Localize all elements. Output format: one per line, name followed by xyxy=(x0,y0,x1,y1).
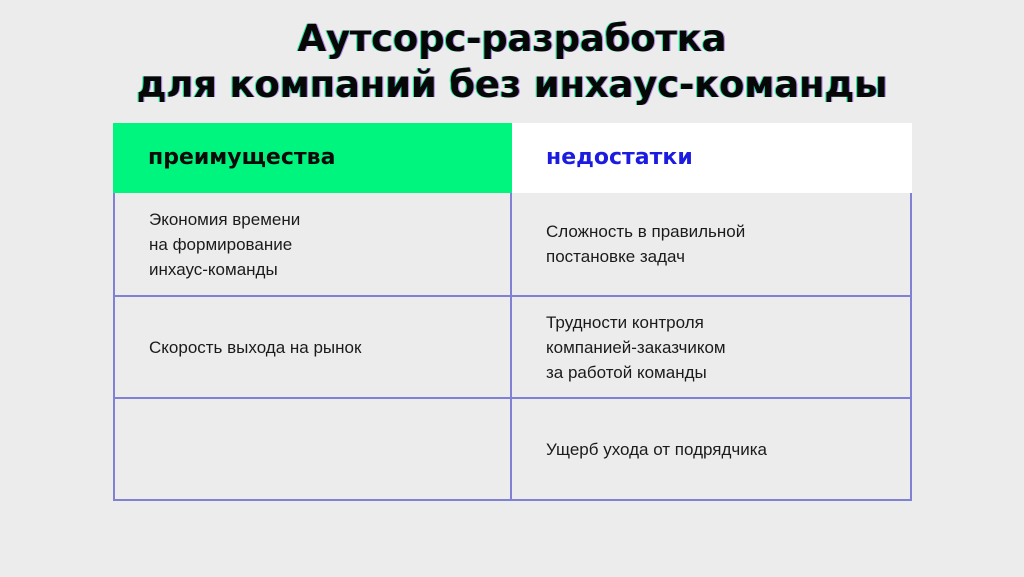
table-cell-text: Скорость выхода на рынок xyxy=(149,335,361,360)
table-header-row: преимущества недостатки xyxy=(113,123,912,193)
table-row: Экономия времени на формирование инхаус-… xyxy=(113,193,912,295)
page-title-line-2: для компаний без инхаус-команды xyxy=(0,62,1024,108)
table-cell-text: Трудности контроля компанией-заказчиком … xyxy=(546,310,726,385)
table-row: Скорость выхода на рынок Трудности контр… xyxy=(113,295,912,397)
table-cell-text: Сложность в правильной постановке задач xyxy=(546,219,745,269)
table-cell-advantages: Скорость выхода на рынок xyxy=(115,297,512,397)
table-row: Ущерб ухода от подрядчика xyxy=(113,397,912,501)
table-cell-disadvantages: Трудности контроля компанией-заказчиком … xyxy=(512,297,910,397)
column-header-advantages: преимущества xyxy=(113,123,512,193)
column-header-disadvantages: недостатки xyxy=(512,123,912,193)
table-cell-text: Ущерб ухода от подрядчика xyxy=(546,437,767,462)
table-cell-advantages: Экономия времени на формирование инхаус-… xyxy=(115,193,512,295)
comparison-table: преимущества недостатки Экономия времени… xyxy=(113,123,912,501)
page-title: Аутсорс-разработка для компаний без инха… xyxy=(0,16,1024,108)
column-header-advantages-label: преимущества xyxy=(148,145,335,171)
table-cell-text: Экономия времени на формирование инхаус-… xyxy=(149,207,300,282)
page-title-line-1: Аутсорс-разработка xyxy=(0,16,1024,62)
column-header-disadvantages-label: недостатки xyxy=(546,145,693,171)
table-cell-disadvantages: Сложность в правильной постановке задач xyxy=(512,193,910,295)
table-cell-disadvantages: Ущерб ухода от подрядчика xyxy=(512,399,910,499)
table-cell-advantages xyxy=(115,399,512,499)
